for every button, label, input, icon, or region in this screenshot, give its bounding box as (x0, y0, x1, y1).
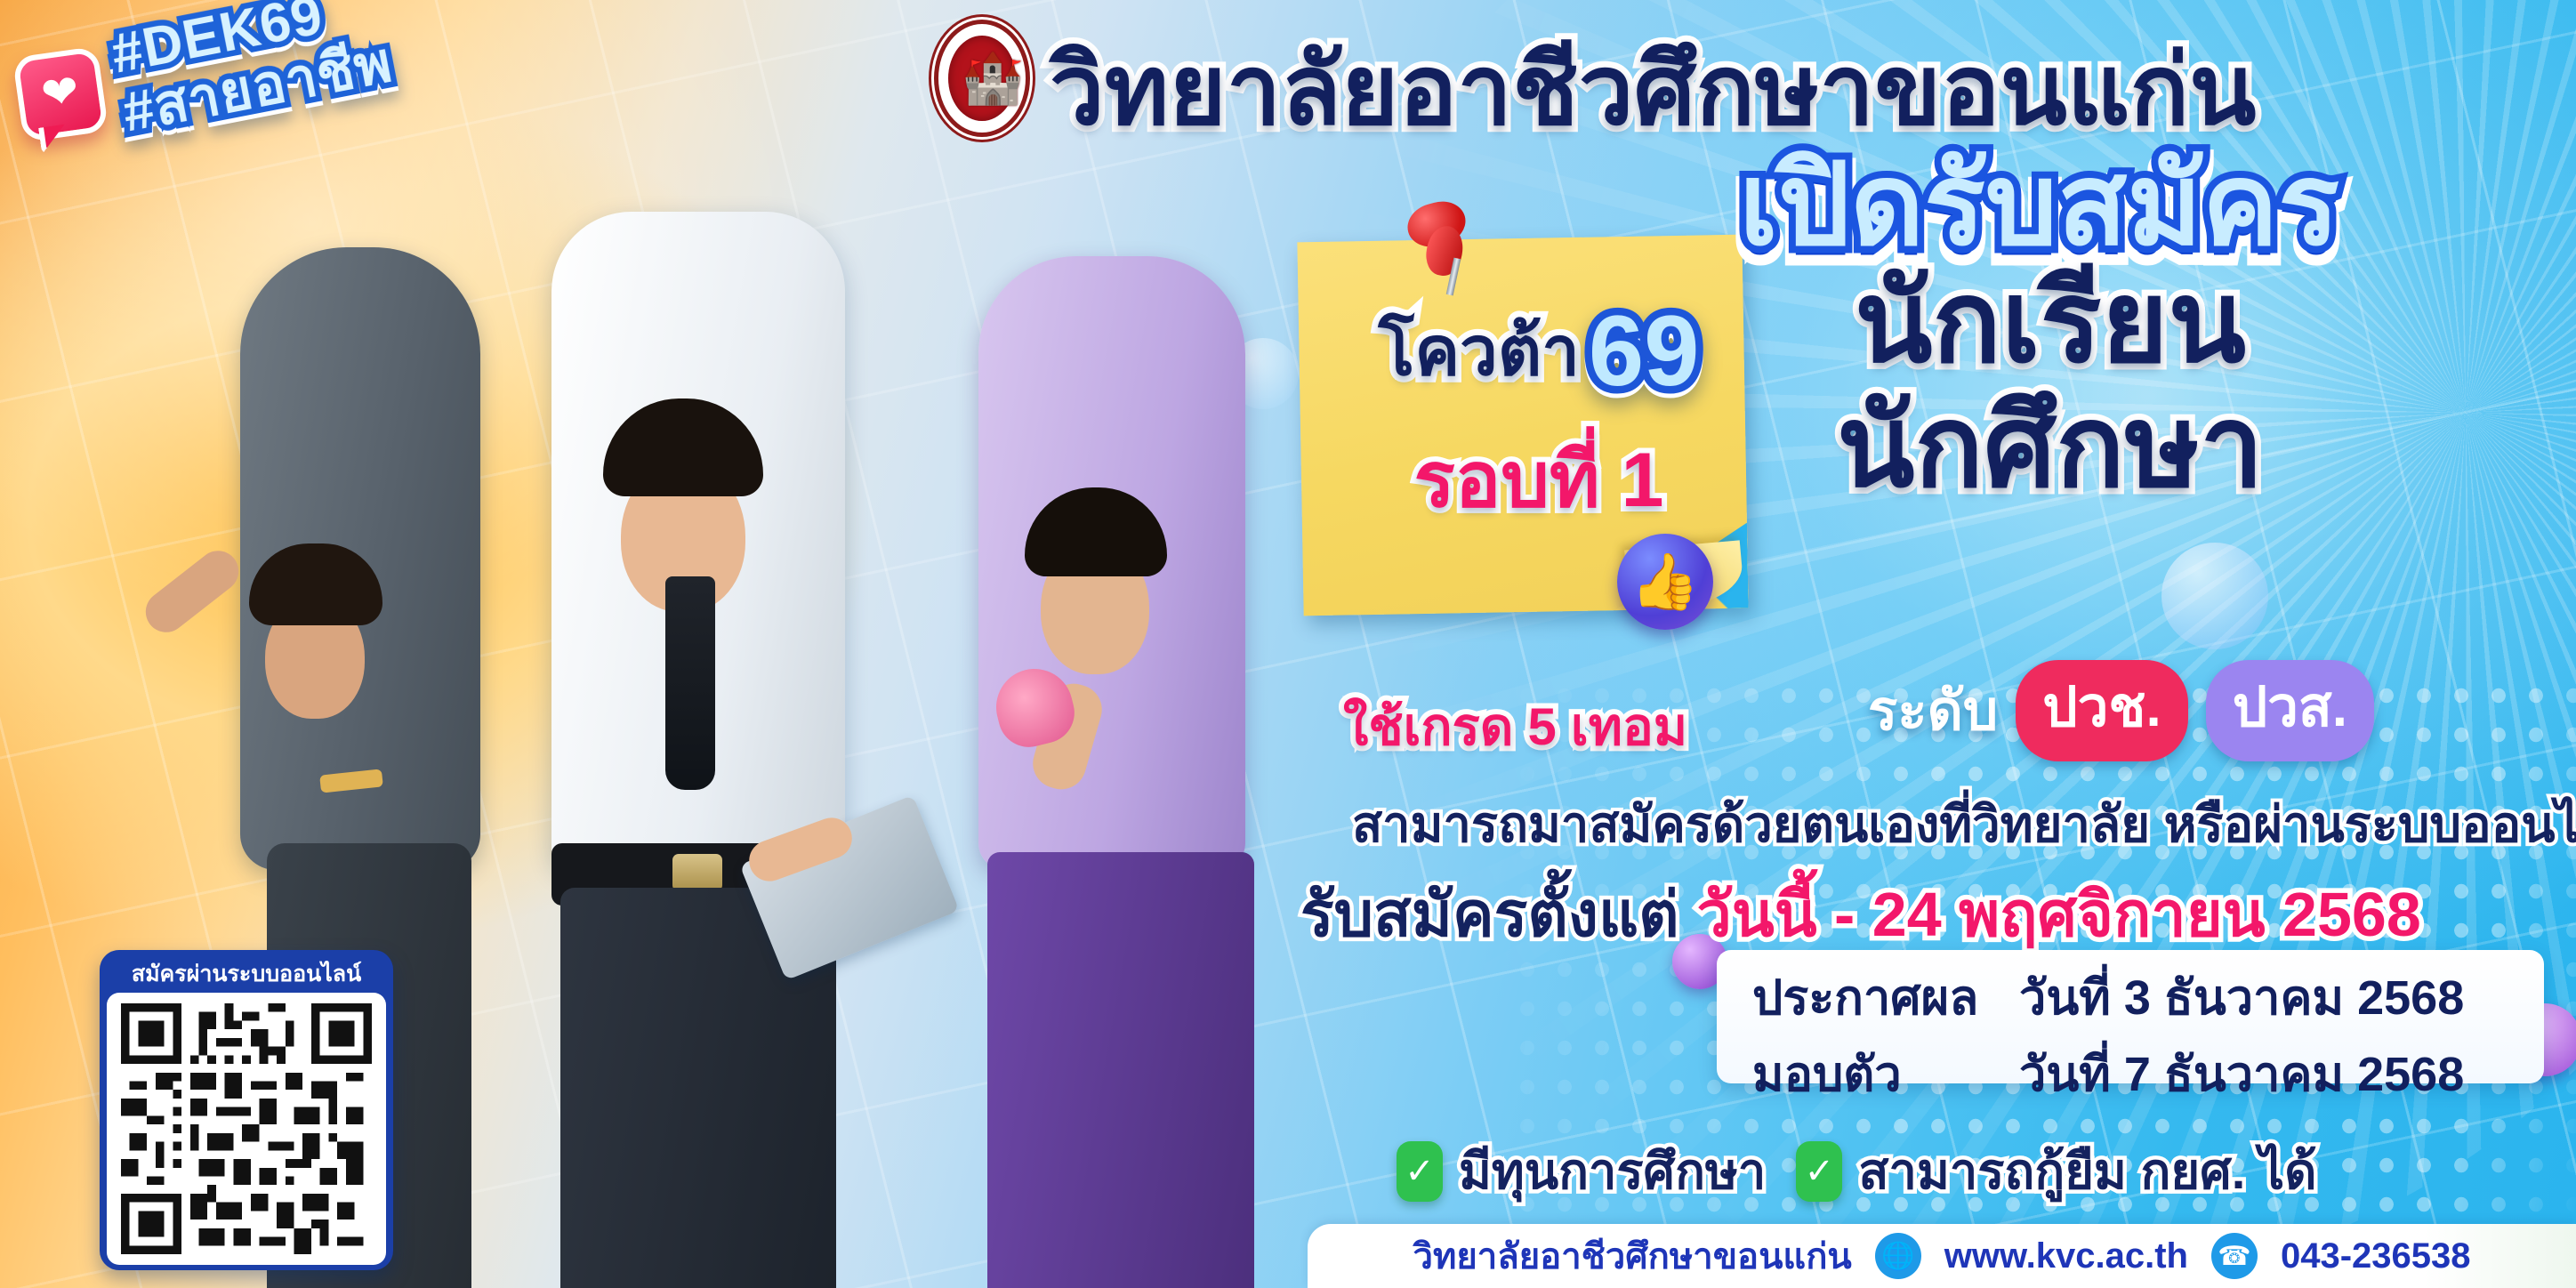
admission-banner: ❤ #DEK69 #สายอาชีพ (0, 0, 2576, 1288)
check-icon: ✓ (1796, 1141, 1842, 1202)
application-period-row: รับสมัครตั้งแต่ วันนี้ - 24 พฤศจิกายน 25… (1300, 865, 2421, 963)
table-row: ประกาศผล วันที่ 3 ธันวาคม 2568 (1752, 959, 2508, 1035)
qr-code-icon[interactable] (107, 993, 386, 1265)
key-dates-box: ประกาศผล วันที่ 3 ธันวาคม 2568 มอบตัว วั… (1717, 950, 2544, 1083)
application-period-dates: วันนี้ - 24 พฤศจิกายน 2568 (1697, 865, 2421, 963)
headline-student-line2: นักศึกษา (1837, 356, 2264, 536)
student-right (854, 194, 1281, 1288)
footer-phone[interactable]: 043-236538 (2281, 1236, 2471, 1276)
enrollment-value: วันที่ 7 ธันวาคม 2568 (2019, 1035, 2464, 1112)
royal-seal-icon: 🏰 (934, 20, 1030, 137)
quota-label: โควต้า (1379, 298, 1580, 405)
level-chip-pvch: ปวช. (2016, 660, 2187, 761)
quota-line: โควต้า 69 (1308, 294, 1770, 408)
heart-icon: ❤ (38, 64, 83, 120)
application-period-label: รับสมัครตั้งแต่ (1300, 865, 1679, 963)
benefit-student-loan-label: สามารถกู้ยืม กยศ. ได้ (1858, 1131, 2316, 1211)
benefit-scholarship-label: มีทุนการศึกษา (1459, 1131, 1766, 1211)
benefit-scholarship: ✓ มีทุนการศึกษา (1397, 1131, 1766, 1211)
application-method-text: สามารถมาสมัครด้วยตนเองที่วิทยาลัย หรือผ่… (1352, 785, 2576, 864)
like-heart-badge: ❤ (12, 46, 109, 142)
student-center (418, 96, 916, 1288)
table-row: มอบตัว วันที่ 7 ธันวาคม 2568 (1752, 1035, 2508, 1112)
qr-caption: สมัครผ่านระบบออนไลน์ (107, 957, 386, 993)
level-label: ระดับ (1868, 667, 1998, 754)
footer-website[interactable]: www.kvc.ac.th (1944, 1236, 2188, 1276)
enrollment-label: มอบตัว (1752, 1035, 2019, 1112)
benefits-row: ✓ มีทุนการศึกษา ✓ สามารถกู้ยืม กยศ. ได้ (1397, 1131, 2316, 1211)
decorative-bubble (2161, 543, 2268, 649)
grade-requirement-tag: ใช้เกรด 5 เทอม (1343, 685, 1687, 768)
headline-open-text: เปิดรับสมัคร (1739, 141, 2339, 269)
thumbs-up-icon: 👍 (1617, 534, 1713, 630)
push-pin-icon (1404, 203, 1471, 292)
level-chip-pvs: ปวส. (2206, 660, 2374, 761)
headline-open-admission: เปิดรับสมัคร เปิดรับสมัคร (1739, 114, 2339, 294)
round-label: รอบที่ 1 (1308, 418, 1770, 540)
qr-code-svg (117, 1003, 375, 1254)
globe-icon: 🌐 (1875, 1233, 1921, 1279)
level-row: ระดับ ปวช. ปวส. (1868, 660, 2374, 761)
quota-number: 69 (1589, 294, 1700, 408)
footer-org-name: วิทยาลัยอาชีวศึกษาขอนแก่น (1413, 1228, 1852, 1284)
footer-contact-bar: วิทยาลัยอาชีวศึกษาขอนแก่น 🌐 www.kvc.ac.t… (1308, 1224, 2576, 1288)
result-announce-label: ประกาศผล (1752, 959, 2019, 1035)
check-icon: ✓ (1397, 1141, 1443, 1202)
result-announce-value: วันที่ 3 ธันวาคม 2568 (2019, 959, 2464, 1035)
benefit-student-loan: ✓ สามารถกู้ยืม กยศ. ได้ (1796, 1131, 2316, 1211)
phone-icon: ☎ (2211, 1233, 2258, 1279)
qr-apply-card[interactable]: สมัครผ่านระบบออนไลน์ (100, 950, 393, 1270)
